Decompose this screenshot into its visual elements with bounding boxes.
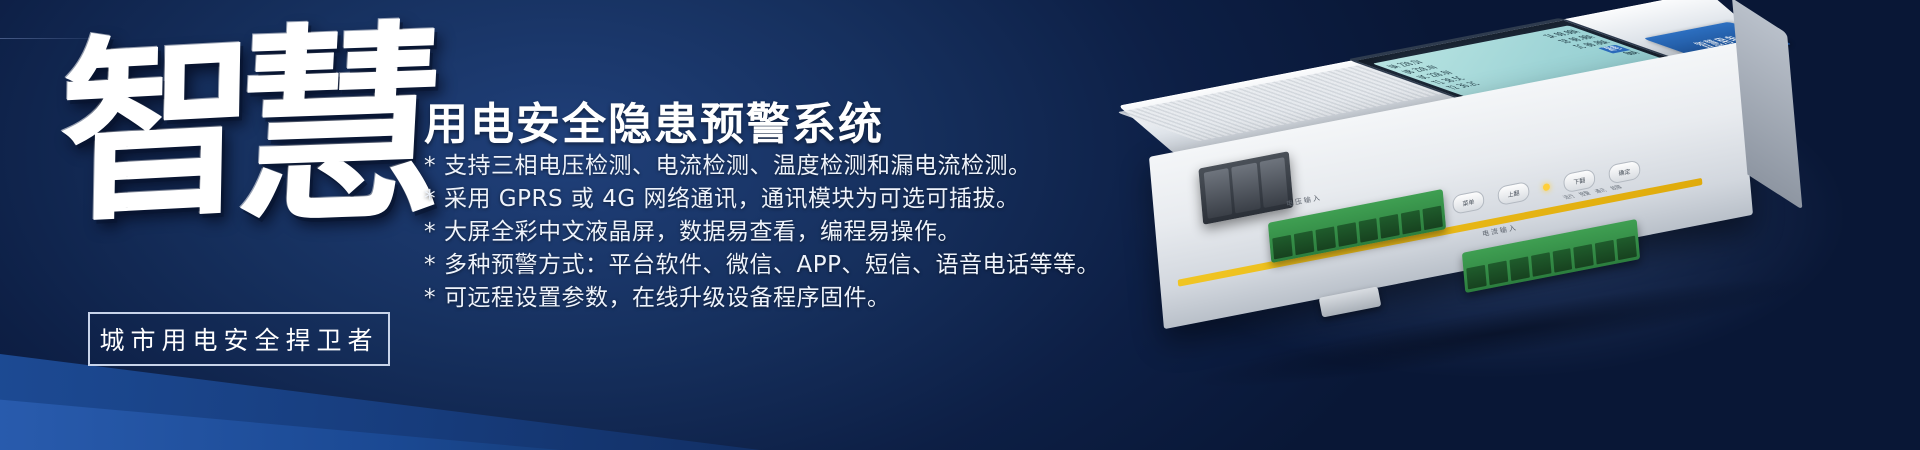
terminal-pin [1423, 206, 1443, 231]
page-down-button[interactable]: 下翻 [1563, 168, 1596, 193]
calligraphy-logo: 智 慧 [60, 22, 410, 262]
terminal-pin [1595, 240, 1615, 265]
list-item: *可远程设置参数，在线升级设备程序固件。 [424, 282, 1124, 315]
list-item-label: 多种预警方式：平台软件、微信、APP、短信、语音电话等等。 [444, 252, 1100, 278]
terminal-pin [1272, 235, 1292, 260]
status-led-icon [1543, 182, 1550, 190]
promo-banner: 智 慧 城市用电安全捍卫者 用电安全隐患预警系统 *支持三相电压检测、电流检测、… [0, 0, 1920, 450]
list-item: *多种预警方式：平台软件、微信、APP、短信、语音电话等等。 [424, 249, 1124, 282]
terminal-pin [1509, 256, 1529, 281]
terminal-pin [1488, 261, 1508, 286]
connector-pin [1204, 168, 1233, 219]
list-item-label: 可远程设置参数，在线升级设备程序固件。 [444, 285, 891, 311]
tagline-box: 城市用电安全捍卫者 [88, 312, 390, 366]
terminal-pin [1552, 248, 1572, 273]
bullet-marker-icon: * [424, 249, 436, 282]
menu-button[interactable]: 菜单 [1452, 189, 1485, 214]
calligraphy-char-hui: 慧 [229, 18, 451, 235]
list-item: *采用 GPRS 或 4G 网络通讯，通讯模块为可选可插拔。 [424, 183, 1124, 216]
list-item-label: 大屏全彩中文液晶屏，数据易查看，编程易操作。 [444, 219, 961, 245]
lcd-cell-right: 0mA [1621, 50, 1646, 57]
page-title: 用电安全隐患预警系统 [424, 88, 884, 152]
bullet-marker-icon: * [424, 183, 436, 216]
bullet-marker-icon: * [424, 282, 436, 315]
terminal-pin [1401, 210, 1421, 235]
terminal-pin [1337, 222, 1357, 247]
terminal-pin [1315, 226, 1335, 251]
terminal-pin [1466, 265, 1486, 290]
tagline-text: 城市用电安全捍卫者 [99, 321, 378, 357]
list-item: *大屏全彩中文液晶屏，数据易查看，编程易操作。 [424, 216, 1124, 249]
feature-list: *支持三相电压检测、电流检测、温度检测和漏电流检测。 *采用 GPRS 或 4G… [424, 150, 1124, 315]
page-up-button[interactable]: 上翻 [1497, 180, 1530, 205]
calligraphy-char-zhi: 智 [58, 27, 258, 233]
connector-pin [1259, 157, 1288, 208]
terminal-pin [1531, 252, 1551, 277]
terminal-pin [1294, 231, 1314, 256]
connector-pin [1232, 163, 1261, 214]
terminal-pin [1574, 244, 1594, 269]
bullet-marker-icon: * [424, 150, 436, 183]
confirm-button[interactable]: 确定 [1608, 159, 1641, 184]
terminal-pin [1380, 214, 1400, 239]
terminal-pin [1617, 236, 1637, 261]
list-item-label: 采用 GPRS 或 4G 网络通讯，通讯模块为可选可插拔。 [444, 186, 1019, 212]
bullet-marker-icon: * [424, 216, 436, 249]
list-item: *支持三相电压检测、电流检测、温度检测和漏电流检测。 [424, 150, 1124, 183]
list-item-label: 支持三相电压检测、电流检测、温度检测和漏电流检测。 [444, 153, 1032, 179]
product-image: UA 220.5V IA 00.00A UB 220.4V IB 00.00A … [1090, 10, 1890, 430]
terminal-pin [1358, 218, 1378, 243]
